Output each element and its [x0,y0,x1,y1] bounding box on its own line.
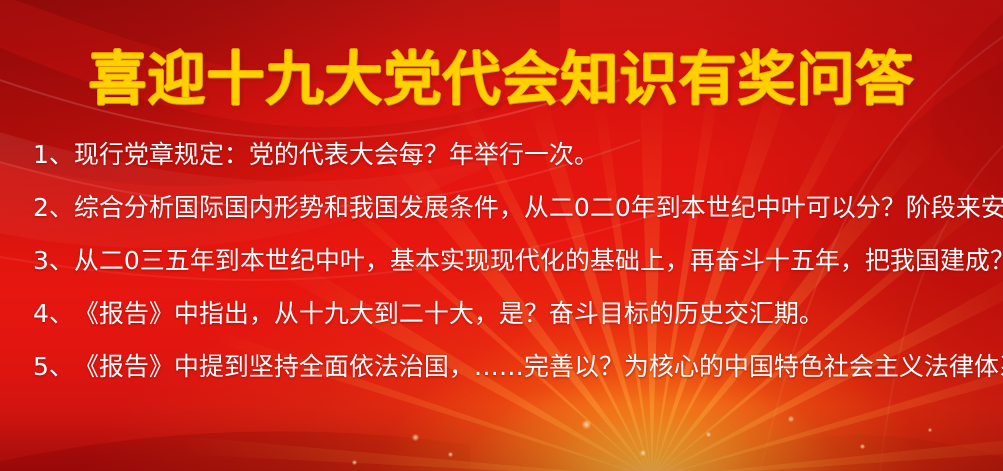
question-item: 3、 从二0三五年到本世纪中叶，基本实现现代化的基础上，再奋斗十五年，把我国建成… [0,246,1003,299]
question-number: 3、 [33,246,74,276]
question-number: 1、 [33,140,74,170]
question-item: 2、 综合分析国际国内形势和我国发展条件，从二0二0年到本世纪中叶可以分？阶段来… [0,193,1003,246]
question-item: 4、 《报告》中指出，从十九大到二十大，是？奋斗目标的历史交汇期。 [0,299,1003,352]
question-item: 1、 现行党章规定：党的代表大会每？年举行一次。 [0,140,1003,193]
question-text: 《报告》中指出，从十九大到二十大，是？奋斗目标的历史交汇期。 [74,299,824,329]
question-text: 综合分析国际国内形势和我国发展条件，从二0二0年到本世纪中叶可以分？阶段来安排。 [74,193,1003,223]
question-number: 4、 [33,299,74,329]
poster-canvas: 喜迎十九大党代会知识有奖问答 1、 现行党章规定：党的代表大会每？年举行一次。 … [0,0,1003,471]
question-number: 2、 [33,193,74,223]
question-text: 现行党章规定：党的代表大会每？年举行一次。 [74,140,599,170]
page-title: 喜迎十九大党代会知识有奖问答 [0,46,1003,112]
question-item: 5、 《报告》中提到坚持全面依法治国，……完善以？为核心的中国特色社会主义法律体… [0,352,1003,405]
question-number: 5、 [33,352,74,382]
poster-content: 喜迎十九大党代会知识有奖问答 1、 现行党章规定：党的代表大会每？年举行一次。 … [0,0,1003,471]
question-text: 从二0三五年到本世纪中叶，基本实现现代化的基础上，再奋斗十五年，把我国建成？。 [74,246,1003,276]
question-list: 1、 现行党章规定：党的代表大会每？年举行一次。 2、 综合分析国际国内形势和我… [0,140,1003,405]
question-text: 《报告》中提到坚持全面依法治国，……完善以？为核心的中国特色社会主义法律体系。 [74,352,1003,382]
